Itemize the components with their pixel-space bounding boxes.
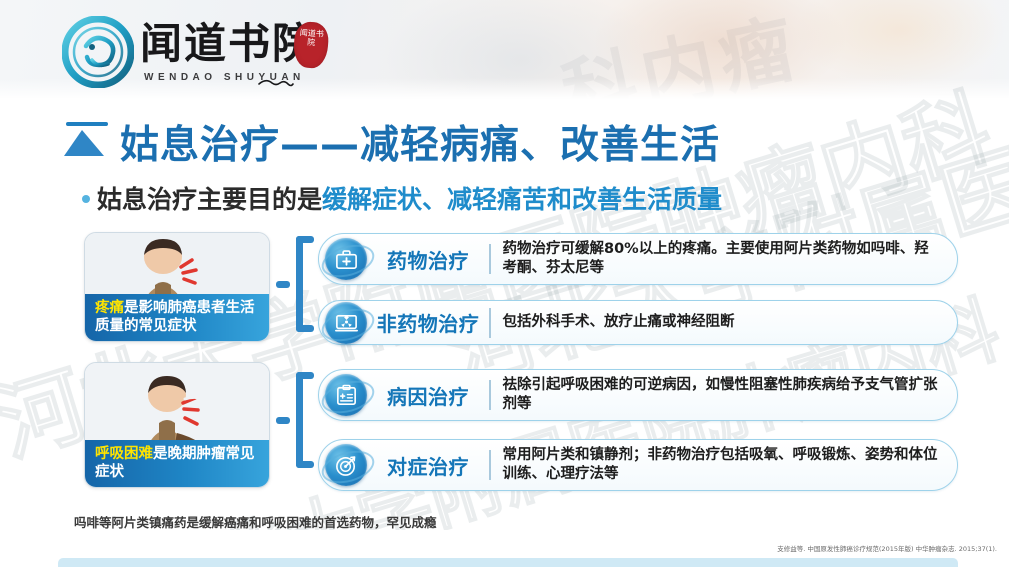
- page-title: 姑息治疗——减轻病痛、改善生活: [120, 114, 720, 170]
- clipboard-record-icon: [325, 374, 367, 416]
- citation-text: 支修益等. 中国原发性肺癌诊疗规范(2015年版) 中华肿瘤杂志. 2015;3…: [777, 543, 997, 553]
- chevron-right-icon: [62, 128, 106, 158]
- treatment-row-title: 药物治疗: [367, 245, 489, 274]
- pain-caption: 疼痛是影响肺癌患者生活质量的常见症状: [85, 294, 269, 341]
- treatment-row-text: 包括外科手术、放疗止痛或神经阻断: [491, 313, 958, 332]
- symptom-card-dyspnea: 呼吸困难是晚期肿瘤常见症状: [84, 362, 270, 488]
- treatment-row-title: 对症治疗: [367, 451, 489, 480]
- bracket-stroke: [296, 325, 314, 332]
- footnote-text: 吗啡等阿片类镇痛药是缓解癌痛和呼吸困难的首选药物，罕见成瘾: [74, 512, 437, 531]
- dyspnea-caption: 呼吸困难是晚期肿瘤常见症状: [85, 440, 269, 487]
- treatment-row-text: 常用阿片类和镇静剂；非药物治疗包括吸氧、呼吸锻炼、姿势和体位训练、心理疗法等: [491, 446, 958, 484]
- treatment-row-title: 非药物治疗: [367, 308, 489, 337]
- target-arrow-icon: [325, 444, 367, 486]
- title-rule: [66, 122, 108, 126]
- cloud-swirl-icon: [258, 76, 294, 88]
- bracket-stroke: [276, 281, 290, 288]
- brand-logo: 闻道书院 WENDAO SHUYUAN 闻道书院: [62, 14, 327, 92]
- bracket-stroke: [296, 236, 314, 243]
- bracket-stroke: [296, 461, 314, 468]
- bracket-stroke: [276, 417, 290, 424]
- treatment-row-symptomatic-therapy[interactable]: 对症治疗 常用阿片类和镇静剂；非药物治疗包括吸氧、呼吸锻炼、姿势和体位训练、心理…: [318, 439, 958, 491]
- treatment-row-title: 病因治疗: [367, 381, 489, 410]
- treatment-row-drug-therapy[interactable]: 药物治疗 药物治疗可缓解80%以上的疼痛。主要使用阿片类药物如吗啡、羟考酮、芬太…: [318, 233, 958, 285]
- treatment-row-nondrug-therapy[interactable]: 非药物治疗 包括外科手术、放疗止痛或神经阻断: [318, 300, 958, 345]
- pain-caption-key: 疼痛: [95, 300, 124, 316]
- bracket-stroke: [296, 372, 303, 468]
- bracket-pain-group: [288, 236, 314, 332]
- subtitle-accent: 缓解症状、减轻痛苦和改善生活质量: [322, 185, 722, 214]
- bracket-stroke: [296, 236, 303, 332]
- bullet-dot-icon: [82, 195, 90, 203]
- wendao-emblem-icon: [62, 16, 134, 88]
- dyspnea-caption-key: 呼吸困难: [95, 446, 153, 462]
- brand-name: 闻道书院: [140, 18, 316, 70]
- symptom-card-pain: 疼痛是影响肺癌患者生活质量的常见症状: [84, 232, 270, 342]
- radiotherapy-monitor-icon: [325, 302, 367, 344]
- medical-kit-icon: [325, 238, 367, 280]
- slide-title-block: 姑息治疗——减轻病痛、改善生活: [62, 118, 962, 174]
- treatment-row-text: 药物治疗可缓解80%以上的疼痛。主要使用阿片类药物如吗啡、羟考酮、芬太尼等: [491, 240, 958, 278]
- treatment-row-etiologic-therapy[interactable]: 病因治疗 祛除引起呼吸困难的可逆病因，如慢性阻塞性肺疾病给予支气管扩张剂等: [318, 369, 958, 421]
- treatment-row-text: 祛除引起呼吸困难的可逆病因，如慢性阻塞性肺疾病给予支气管扩张剂等: [491, 376, 958, 414]
- bracket-dyspnea-group: [288, 372, 314, 468]
- bracket-stroke: [296, 372, 314, 379]
- slide-subtitle: 姑息治疗主要目的是缓解症状、减轻痛苦和改善生活质量: [82, 180, 982, 212]
- seal-text: 闻道书院: [294, 21, 330, 48]
- subtitle-plain: 姑息治疗主要目的是: [97, 185, 322, 214]
- red-seal-stamp: 闻道书院: [292, 21, 329, 69]
